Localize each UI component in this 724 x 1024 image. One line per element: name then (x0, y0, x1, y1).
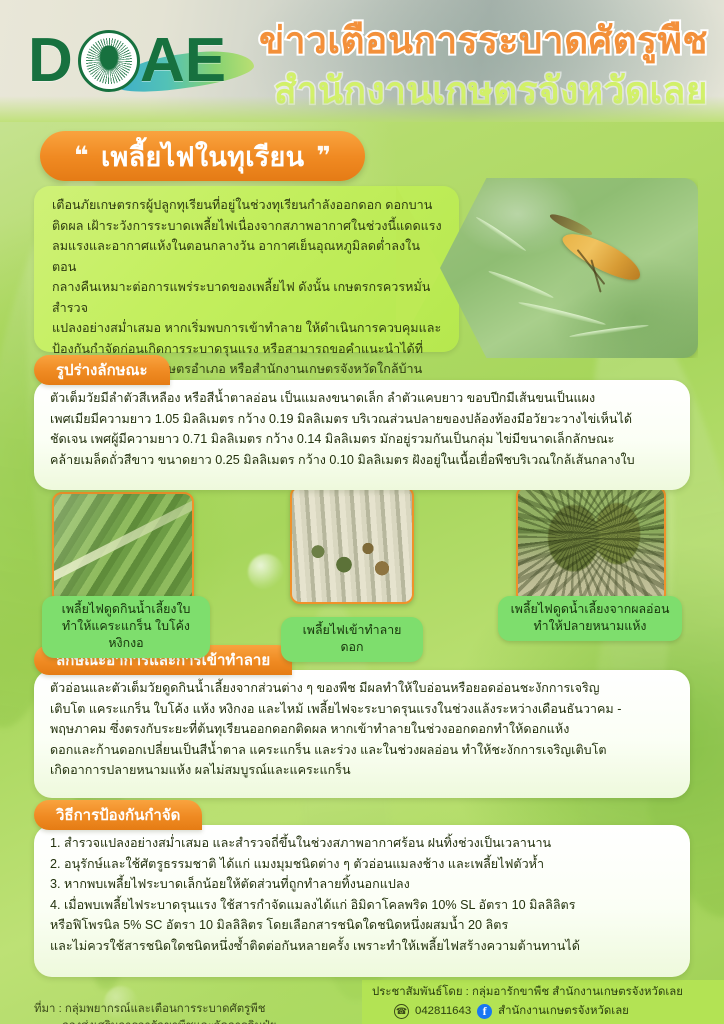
phone-icon: ☎ (394, 1004, 409, 1019)
footer-facebook: สำนักงานเกษตรจังหวัดเลย (498, 1003, 629, 1020)
bokeh-light (248, 554, 284, 590)
durian-flower-damage-photo (290, 486, 414, 604)
thrips-insect (558, 224, 646, 287)
photo-caption-flower: เพลี้ยไฟเข้าทำลายดอก (281, 617, 423, 662)
thrips-closeup-photo (440, 178, 698, 358)
logo-letter-d: D (28, 24, 73, 98)
intro-text: เตือนภัยเกษตรกรผู้ปลูกทุเรียนที่อยู่ในช่… (52, 195, 442, 380)
section-badge-label: วิธีการป้องกันกำจัด (56, 803, 180, 827)
section-text-morphology: ตัวเต็มวัยมีลำตัวสีเหลือง หรือสีน้ำตาลอ่… (50, 388, 676, 470)
footer: ที่มา : กลุ่มพยากรณ์และเตือนการระบาดศัตร… (0, 980, 724, 1024)
quote-open-glyph: ❝ (74, 141, 89, 171)
section-text-prevention: 1. สำรวจแปลงอย่างสม่ำเสมอ และสำรวจถี่ขึ้… (50, 833, 676, 956)
header-banner: D AE ข่าวเตือนการระบาดศัตรูพืช สำนักงานเ… (0, 0, 724, 122)
section-badge-prevention: วิธีการป้องกันกำจัด (34, 800, 202, 830)
photo-caption-fruit: เพลี้ยไฟดูดน้ำเลี้ยงจากผลอ่อน ทำให้ปลายห… (498, 596, 682, 641)
footer-pr: ประชาสัมพันธ์โดย : กลุ่มอารักขาพืช สำนัก… (372, 984, 683, 1020)
footer-source: ที่มา : กลุ่มพยากรณ์และเตือนการระบาดศัตร… (34, 984, 276, 1024)
facebook-icon[interactable]: f (477, 1004, 492, 1019)
footer-source-line1: ที่มา : กลุ่มพยากรณ์และเตือนการระบาดศัตร… (34, 1003, 265, 1015)
page-title-pill: ❝ เพลี้ยไฟในทุเรียน ❞ (40, 131, 365, 181)
logo-letters-ae: AE (140, 24, 226, 98)
footer-source-line2: กองส่งเสริมการอารักขาพืชและจัดการดินปุ๋ย (34, 1018, 276, 1024)
footer-phone: 042811643 (415, 1003, 471, 1020)
header-title-line1: ข่าวเตือนการระบาดศัตรูพืช (259, 22, 708, 59)
section-badge-morphology: รูปร่างลักษณะ (34, 355, 170, 385)
durian-leaf-damage-photo (52, 492, 194, 604)
photo-caption-leaf: เพลี้ยไฟดูดกินน้ำเลี้ยงใบ ทำให้แคระแกร็น… (42, 596, 210, 658)
quote-close-glyph: ❞ (316, 141, 331, 171)
doae-logo: D AE (26, 24, 240, 98)
section-text-symptoms: ตัวอ่อนและตัวเต็มวัยดูดกินน้ำเลี้ยงจากส่… (50, 678, 676, 781)
page-title: เพลี้ยไฟในทุเรียน (101, 135, 304, 178)
header-fade (0, 96, 724, 122)
section-badge-label: รูปร่างลักษณะ (56, 358, 148, 382)
durian-young-fruit-damage-photo (516, 486, 666, 604)
infographic-poster: D AE ข่าวเตือนการระบาดศัตรูพืช สำนักงานเ… (0, 0, 724, 1024)
footer-pr-line: ประชาสัมพันธ์โดย : กลุ่มอารักขาพืช สำนัก… (372, 984, 683, 1001)
royal-garuda-seal-icon (78, 30, 140, 92)
